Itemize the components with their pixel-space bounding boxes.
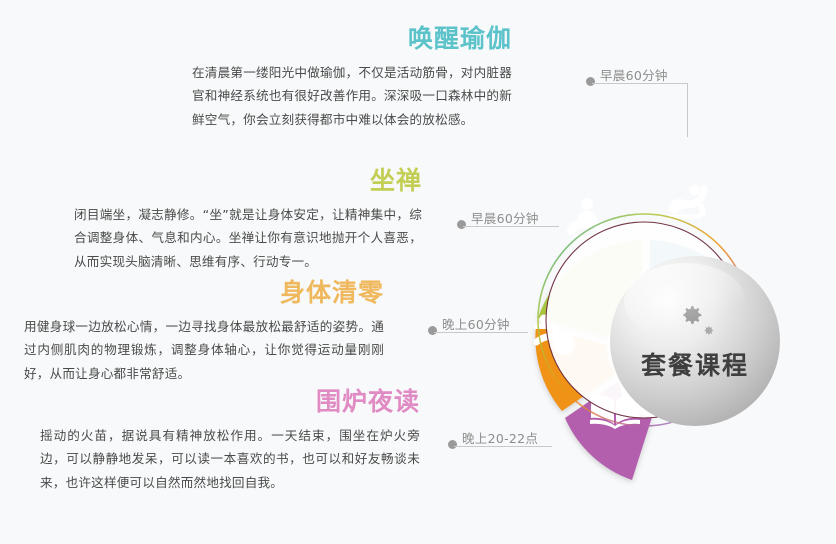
infographic-canvas: 唤醒瑜伽 在清晨第一缕阳光中做瑜伽，不仅是活动筋骨，对内脏器官和神经系统也有很好…: [0, 0, 836, 544]
section-body-3: 摇动的火苗，据说具有精神放松作用。一天结束，围坐在炉火旁边，可以静静地发呆，可以…: [40, 424, 420, 494]
gear-small-icon: [699, 322, 716, 339]
yoga-pose-icon: [668, 185, 707, 219]
section-block-2: 身体清零 用健身球一边放松心情，一边寻找身体最放松最舒适的姿势。通过内侧肌肉的物…: [24, 280, 384, 385]
section-title-2: 身体清零: [24, 280, 384, 305]
section-body-1: 闭目端坐，凝志静修。“坐”就是让身体安定，让精神集中，综合调整身体、气息和内心。…: [74, 203, 422, 273]
center-label: 套餐课程: [641, 346, 749, 382]
section-body-2: 用健身球一边放松心情，一边寻找身体最放松最舒适的姿势。通过内侧肌肉的物理锻炼，调…: [24, 315, 384, 385]
section-title-0: 唤醒瑜伽: [192, 26, 512, 51]
leader-dot-2: [428, 326, 437, 335]
section-block-0: 唤醒瑜伽 在清晨第一缕阳光中做瑜伽，不仅是活动筋骨，对内脏器官和神经系统也有很好…: [192, 26, 512, 131]
leader-dot-0: [586, 77, 595, 86]
gears-icon: [665, 300, 725, 344]
section-block-3: 围炉夜读 摇动的火苗，据说具有精神放松作用。一天结束，围坐在炉火旁边，可以静静地…: [40, 389, 420, 494]
center-sphere: 套餐课程: [610, 256, 780, 426]
section-title-1: 坐禅: [74, 168, 422, 193]
time-label-0: 早晨60分钟: [600, 65, 668, 84]
section-title-3: 围炉夜读: [40, 389, 420, 414]
section-block-1: 坐禅 闭目端坐，凝志静修。“坐”就是让身体安定，让精神集中，综合调整身体、气息和…: [74, 168, 422, 273]
center-badge[interactable]: 套餐课程: [610, 256, 780, 426]
